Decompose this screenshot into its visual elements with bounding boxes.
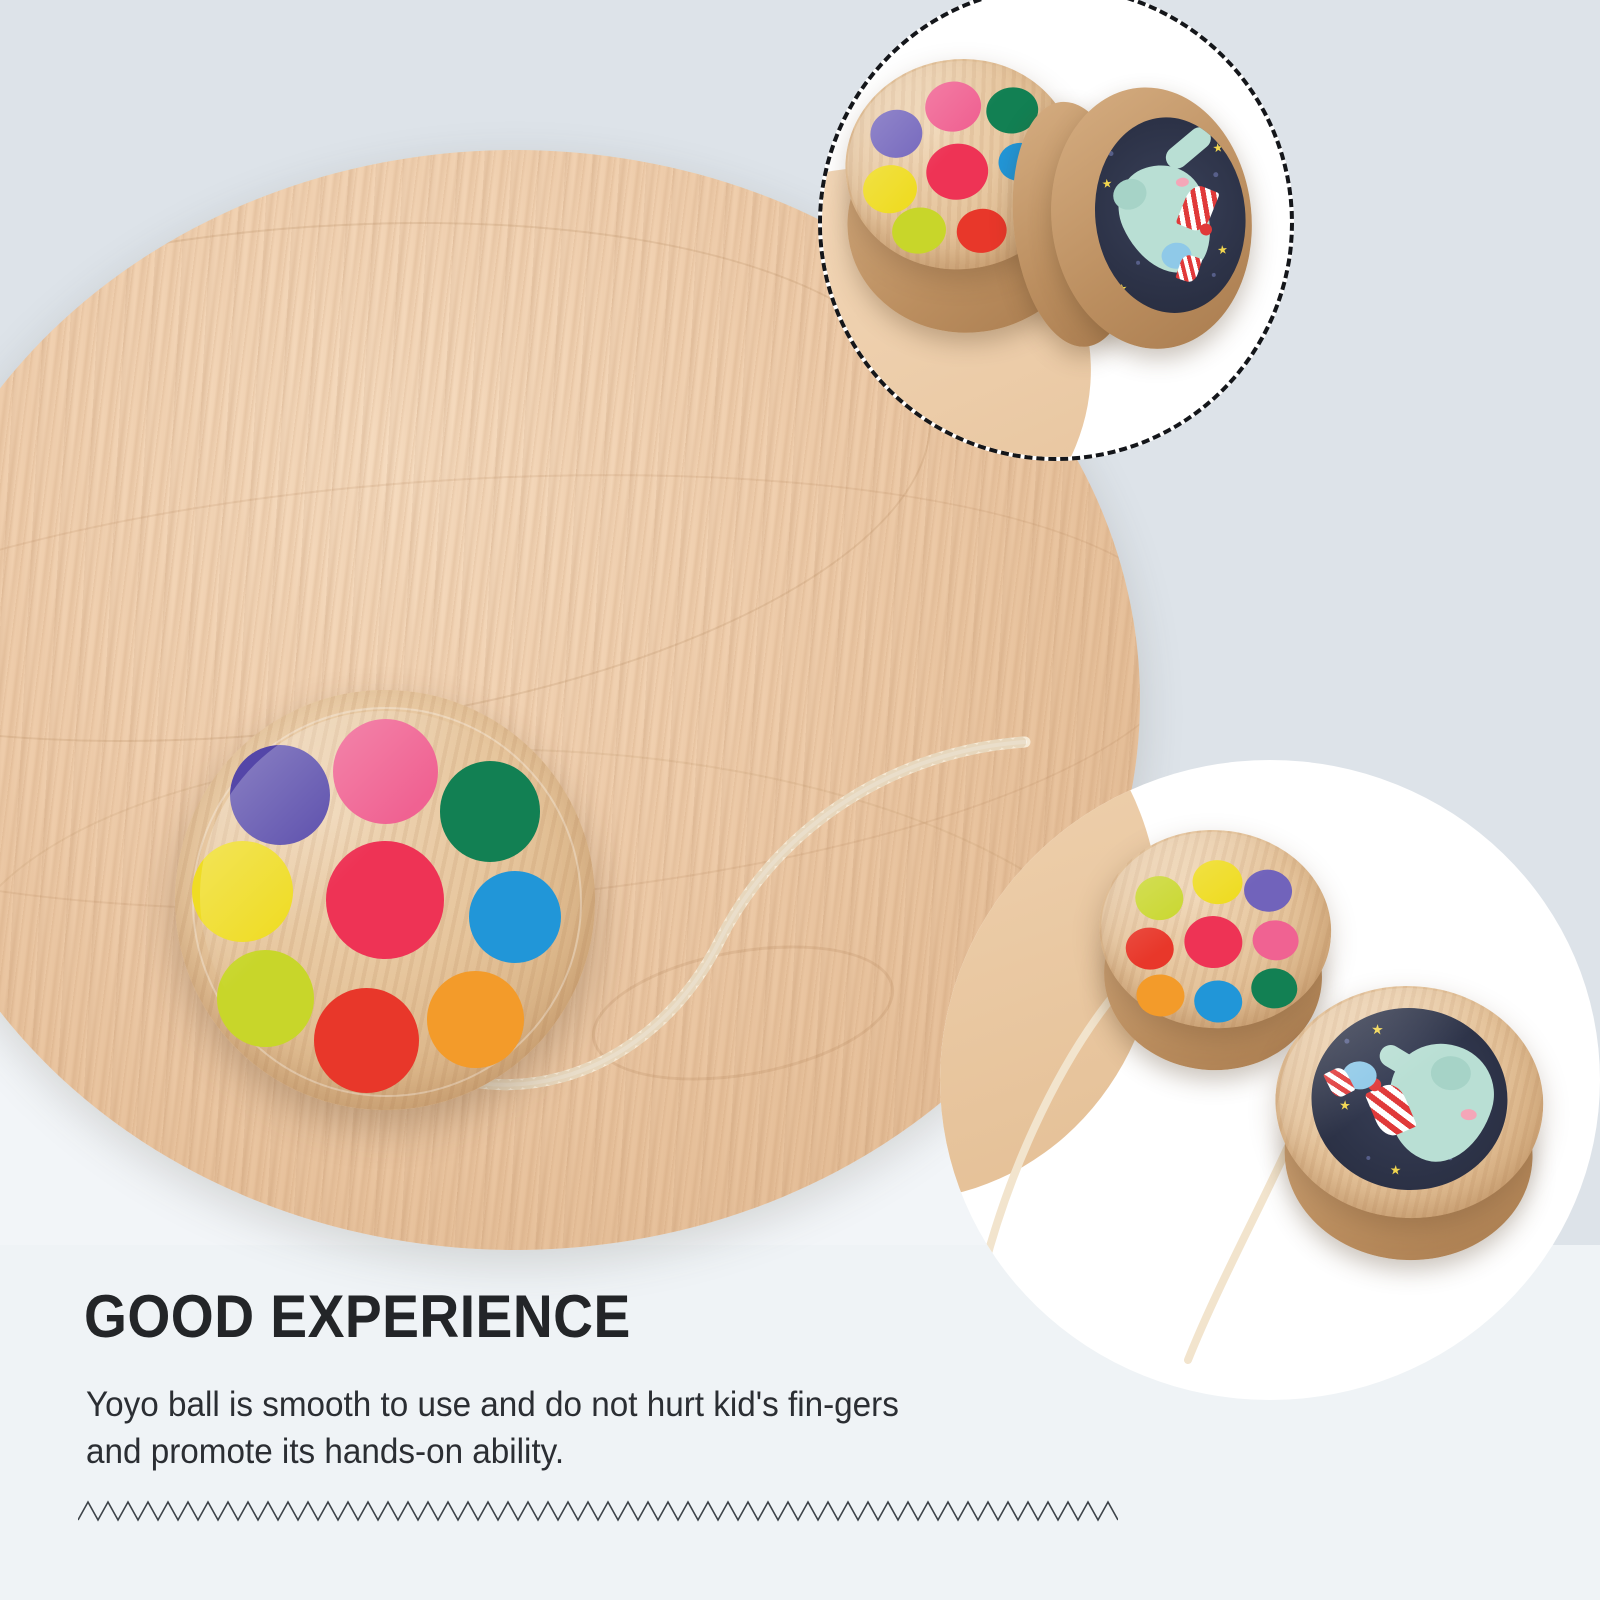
star-icon: ★: [1217, 243, 1229, 256]
star-icon: ★: [1116, 282, 1128, 295]
inset-yoyo-elephant-face: ★ ★ ★ ★: [1001, 77, 1268, 371]
star-icon: ★: [1101, 177, 1113, 190]
star-dot: [1212, 273, 1216, 277]
zigzag-divider: [78, 1498, 1118, 1524]
yoyo-gloss-highlight: [200, 711, 570, 1081]
star-dot: [1108, 151, 1113, 156]
hero-yoyo-dot-face: [175, 690, 595, 1110]
star-dot: [1213, 172, 1218, 177]
hat-pom: [1199, 223, 1212, 236]
page-title: GOOD EXPERIENCE: [84, 1282, 631, 1351]
description-text: Yoyo ball is smooth to use and do not hu…: [86, 1382, 922, 1476]
star-icon: ★: [1212, 141, 1224, 154]
inset2-yoyo-elephant-face: ★ ★ ★ ★: [1261, 975, 1556, 1279]
elephant-body: [1105, 151, 1229, 288]
elephant-trunk: [1161, 123, 1215, 173]
product-marketing-banner: ★ ★ ★ ★: [0, 0, 1600, 1600]
inset-top-right: ★ ★ ★ ★: [818, 0, 1294, 461]
star-dot: [1136, 261, 1140, 265]
inset-bottom-right: ★ ★ ★ ★: [940, 760, 1600, 1400]
